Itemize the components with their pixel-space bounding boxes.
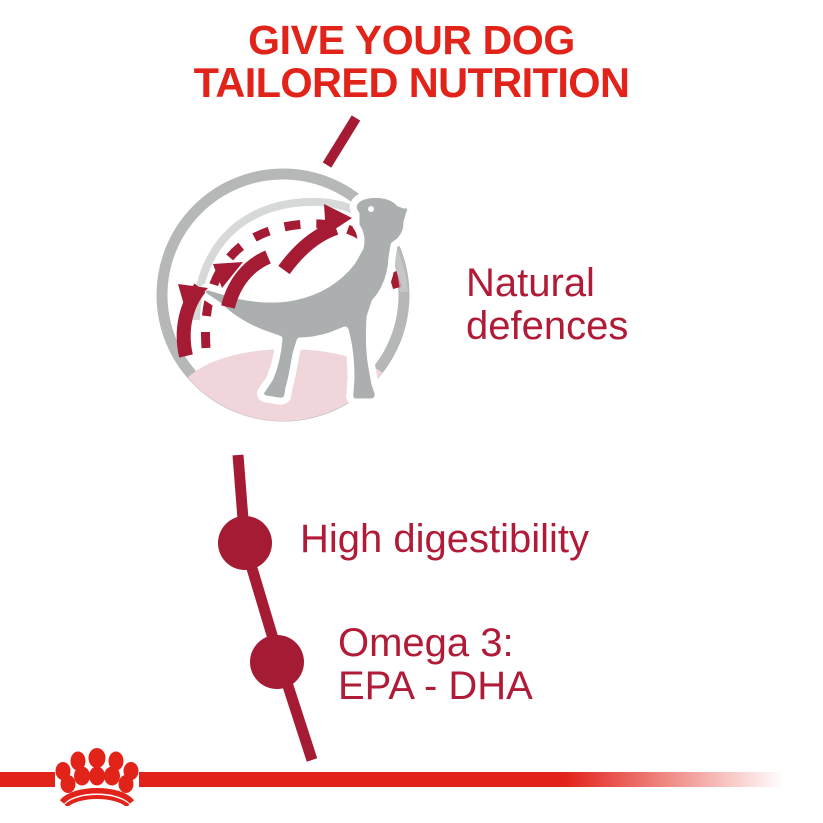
benefit-label-natural-defences: Natural defences xyxy=(466,262,628,348)
poster-canvas: GIVE YOUR DOG TAILORED NUTRITION xyxy=(0,0,823,823)
footer-bar-right xyxy=(139,772,784,787)
royal-canin-crown-logo xyxy=(54,748,140,806)
footer-bar-left xyxy=(0,772,55,787)
connector-node-digestibility xyxy=(218,516,272,570)
connector-path xyxy=(218,455,312,760)
benefit-label-omega-3: Omega 3: EPA - DHA xyxy=(338,622,533,708)
natural-defences-icon xyxy=(162,174,411,441)
connector-tick-top xyxy=(327,118,356,165)
benefit-label-high-digestibility: High digestibility xyxy=(300,518,589,561)
connector-node-omega xyxy=(250,635,304,689)
